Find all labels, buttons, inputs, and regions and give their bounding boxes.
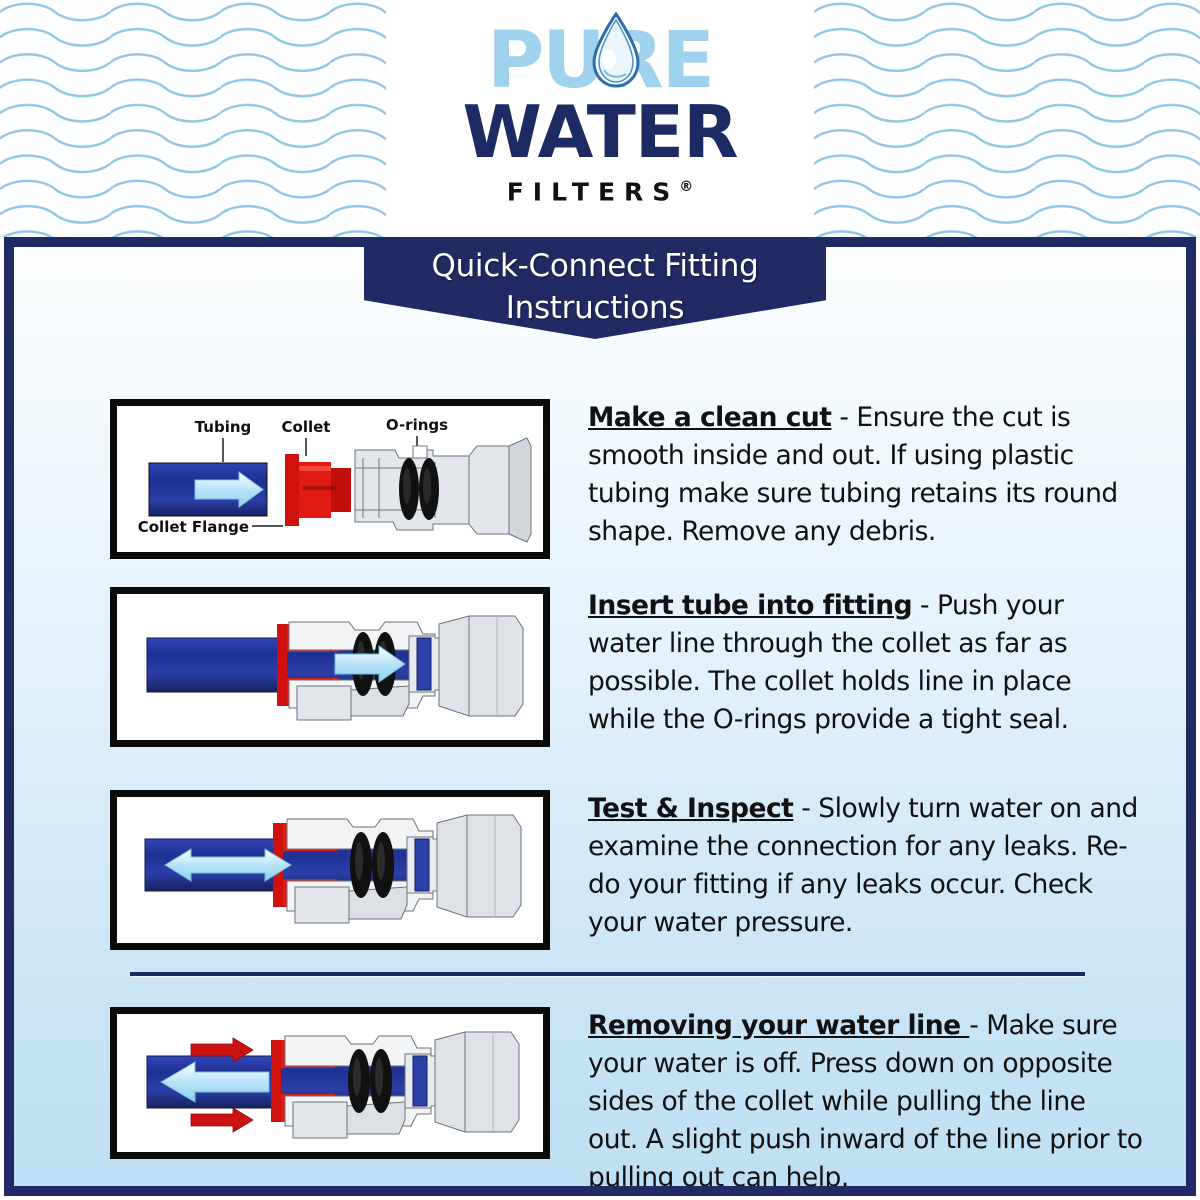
wave-pattern-right (814, 0, 1200, 237)
tube-stop (413, 1056, 427, 1106)
diagram-tube-inserted (110, 587, 550, 747)
header-band: PURE WATER FILTERS® (0, 0, 1200, 237)
label-orings: O-rings (386, 416, 448, 434)
step-make-a-clean-cut: Tubing Collet O-rings Collet Flange (110, 399, 1143, 559)
end-cap (437, 815, 521, 917)
label-collet-flange: Collet Flange (138, 518, 249, 536)
title-line-1: Quick-Connect Fitting (364, 245, 826, 287)
logo-filters-word: FILTERS (507, 177, 680, 206)
logo-pure-row: PURE (420, 24, 780, 98)
end-cap (439, 616, 523, 716)
step-insert-tube-into-fitting: Insert tube into fitting - Push your wat… (110, 587, 1143, 747)
label-collet: Collet (282, 418, 331, 436)
logo-text-filters: FILTERS® (507, 172, 694, 207)
instruction-graphic: PURE WATER FILTERS® (0, 0, 1200, 1200)
tube-stop (415, 839, 429, 891)
step-text-2: Insert tube into fitting - Push your wat… (588, 587, 1143, 739)
step-lead-2: Insert tube into fitting (588, 590, 912, 621)
registered-mark: ® (679, 179, 693, 195)
test-inspect-illustration (117, 797, 543, 943)
section-divider (130, 972, 1085, 976)
instructions-frame: Tubing Collet O-rings Collet Flange (4, 237, 1196, 1196)
diagram-test-inspect (110, 790, 550, 950)
step-lead-1: Make a clean cut (588, 402, 831, 433)
step-test-and-inspect: Test & Inspect - Slowly turn water on an… (110, 790, 1143, 950)
step-lead-4: Removing your water line (588, 1010, 969, 1041)
step-text-3: Test & Inspect - Slowly turn water on an… (588, 790, 1143, 942)
step-text-1: Make a clean cut - Ensure the cut is smo… (588, 399, 1143, 551)
step-text-4: Removing your water line - Make sure you… (588, 1007, 1143, 1196)
diagram-removing-line (110, 1007, 550, 1159)
brand-logo: PURE WATER FILTERS® (386, 0, 814, 237)
exploded-fitting-illustration: Tubing Collet O-rings Collet Flange (117, 406, 543, 552)
step-removing-your-water-line: Removing your water line - Make sure you… (110, 1007, 1143, 1196)
tube-inserted-illustration (117, 594, 543, 740)
removing-line-illustration (117, 1014, 543, 1152)
end-cap (435, 1032, 519, 1132)
step-lead-3: Test & Inspect (588, 793, 793, 824)
label-tubing: Tubing (195, 418, 252, 436)
tube-stop (417, 638, 431, 690)
diagram-exploded-fitting: Tubing Collet O-rings Collet Flange (110, 399, 550, 559)
water-drop-icon (588, 12, 644, 88)
wave-pattern-left (0, 0, 386, 237)
